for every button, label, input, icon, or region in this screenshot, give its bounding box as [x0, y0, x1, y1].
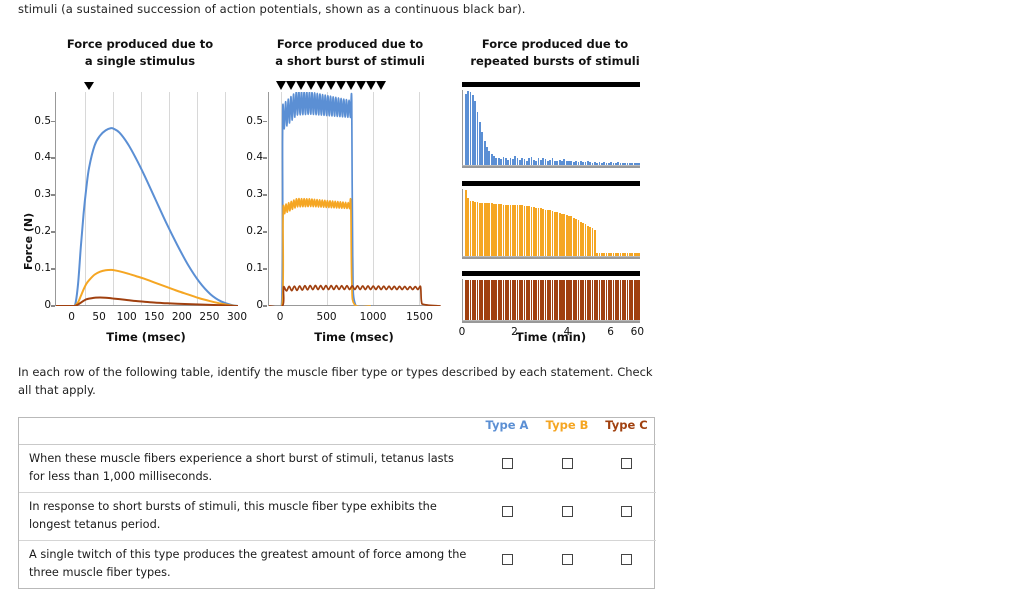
panel-title-short-burst: Force produced due to a short burst of s…	[262, 36, 438, 70]
checkbox-row3-type-b[interactable]	[562, 554, 573, 565]
chart3-mini-plot-type-a	[462, 90, 640, 166]
table-header-type-b: Type B	[537, 418, 597, 445]
chart2-y-tick: 0.2	[225, 225, 263, 237]
row-statement: A single twitch of this type produces th…	[19, 541, 477, 589]
figure-muscle-fiber-force: Force produced due to a single stimulus …	[0, 30, 680, 352]
chart2-y-tick: 0	[225, 299, 263, 311]
chart1-y-tick: 0.1	[10, 262, 51, 274]
panel-title-line-1: Force produced due to	[462, 36, 648, 53]
chart1-plot-area	[55, 92, 237, 306]
chart2-y-tick: 0.1	[225, 262, 263, 274]
chart3-mini-plot-type-c	[462, 279, 640, 321]
checkbox-row2-type-a[interactable]	[502, 506, 513, 517]
stimulus-arrow-single	[84, 82, 94, 90]
stimulus-arrow	[306, 81, 316, 90]
chart1-y-tick: 0.2	[10, 225, 51, 237]
chart2-y-tick: 0.3	[225, 188, 263, 200]
chart1-y-tick: 0.4	[10, 151, 51, 163]
panel-title-single-stimulus: Force produced due to a single stimulus	[52, 36, 228, 70]
chart3-mini-plot-type-b	[462, 189, 640, 257]
checkbox-cell-type-b[interactable]	[537, 493, 597, 541]
fiber-type-table: Type A Type B Type C When these muscle f…	[18, 417, 655, 589]
table-row: A single twitch of this type produces th…	[19, 541, 656, 589]
checkbox-row2-type-c[interactable]	[621, 506, 632, 517]
chart1-x-axis-label: Time (msec)	[55, 330, 237, 344]
checkbox-cell-type-c[interactable]	[597, 493, 656, 541]
fatigue-bar	[638, 253, 640, 256]
table-header-type-a: Type A	[477, 418, 537, 445]
checkbox-cell-type-a[interactable]	[477, 445, 537, 493]
chart1-y-tick: 0.3	[10, 188, 51, 200]
checkbox-row3-type-c[interactable]	[621, 554, 632, 565]
checkbox-cell-type-a[interactable]	[477, 541, 537, 589]
panel-title-line-2: a short burst of stimuli	[262, 53, 438, 70]
checkbox-row1-type-b[interactable]	[562, 458, 573, 469]
chart2-y-tick: 0.4	[225, 151, 263, 163]
stimulus-arrow-train	[276, 81, 386, 90]
table-row: When these muscle fibers experience a sh…	[19, 445, 656, 493]
checkbox-row3-type-a[interactable]	[502, 554, 513, 565]
checkbox-row1-type-a[interactable]	[502, 458, 513, 469]
chart3-x-axis-label: Time (min)	[462, 330, 640, 344]
fatigue-bar	[638, 280, 640, 320]
chart1-x-tick: 300	[221, 311, 253, 323]
panel-title-line-2: a single stimulus	[52, 53, 228, 70]
chart1-y-tick: 0.5	[10, 115, 51, 127]
checkbox-cell-type-c[interactable]	[597, 541, 656, 589]
stimulus-arrow	[346, 81, 356, 90]
checkbox-cell-type-b[interactable]	[537, 445, 597, 493]
chart3-axis-type-b	[462, 257, 640, 259]
checkbox-row2-type-b[interactable]	[562, 506, 573, 517]
stimulus-arrow	[376, 81, 386, 90]
chart2-x-tick: 1000	[353, 311, 393, 323]
chart2-y-tick: 0.5	[225, 115, 263, 127]
chart2-curves	[269, 92, 441, 306]
chart1-curves	[56, 92, 238, 306]
checkbox-row1-type-c[interactable]	[621, 458, 632, 469]
panel-title-repeated-bursts: Force produced due to repeated bursts of…	[462, 36, 648, 70]
stimulus-arrow	[316, 81, 326, 90]
stimulus-arrow	[276, 81, 286, 90]
panel-title-line-1: Force produced due to	[262, 36, 438, 53]
chart3-axis-type-c	[462, 321, 640, 323]
chart2-plot-area	[268, 92, 440, 306]
table-header-row: Type A Type B Type C	[19, 418, 656, 445]
table-header-type-c: Type C	[597, 418, 656, 445]
chart2-x-tick: 1500	[400, 311, 440, 323]
stimulus-bar-type-b	[462, 181, 640, 186]
chart2-x-tick: 0	[260, 311, 300, 323]
panel-title-line-1: Force produced due to	[52, 36, 228, 53]
stimulus-arrow	[336, 81, 346, 90]
stimulus-arrow	[356, 81, 366, 90]
checkbox-cell-type-b[interactable]	[537, 541, 597, 589]
checkbox-cell-type-c[interactable]	[597, 445, 656, 493]
stimulus-arrow	[366, 81, 376, 90]
intro-sentence: stimuli (a sustained succession of actio…	[18, 2, 526, 16]
chart2-x-axis-label: Time (msec)	[268, 330, 440, 344]
stimulus-bar-type-a	[462, 82, 640, 87]
checkbox-cell-type-a[interactable]	[477, 493, 537, 541]
question-prompt: In each row of the following table, iden…	[18, 363, 658, 399]
stimulus-bar-type-c	[462, 271, 640, 276]
fatigue-bar	[638, 163, 640, 165]
chart2-x-tick: 500	[307, 311, 347, 323]
chart3-axis-type-a	[462, 166, 640, 168]
stimulus-arrow	[296, 81, 306, 90]
stimulus-arrow	[326, 81, 336, 90]
stimulus-arrow	[286, 81, 296, 90]
table-header-blank	[19, 418, 477, 445]
panel-title-line-2: repeated bursts of stimuli	[462, 53, 648, 70]
row-statement: In response to short bursts of stimuli, …	[19, 493, 477, 541]
row-statement: When these muscle fibers experience a sh…	[19, 445, 477, 493]
table-row: In response to short bursts of stimuli, …	[19, 493, 656, 541]
chart1-y-tick: 0	[10, 299, 51, 311]
